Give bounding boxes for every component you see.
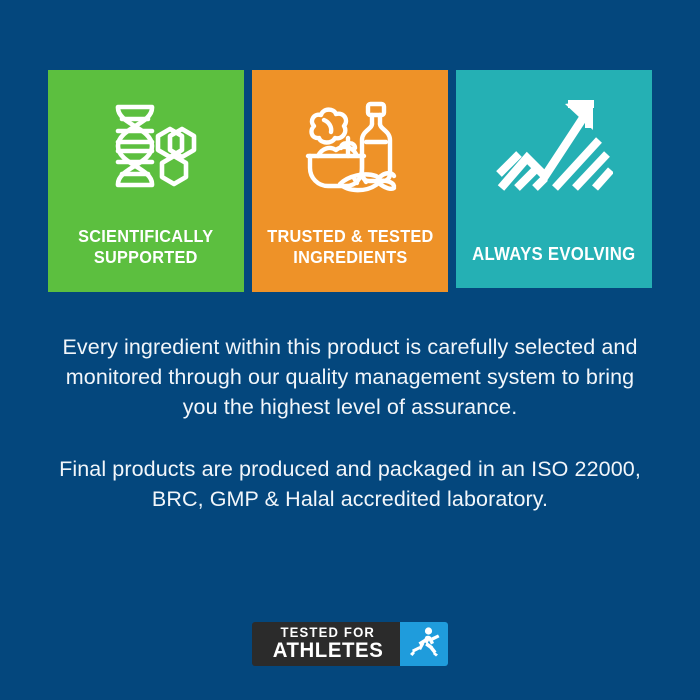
paragraph-quality-management: Every ingredient within this product is … [50, 332, 650, 422]
feature-card-label: ALWAYS EVOLVING [467, 244, 641, 265]
logo-line-tested-for: TESTED FOR [281, 626, 376, 640]
feature-card-label-line1: ALWAYS EVOLVING [472, 244, 635, 264]
feature-card-label-line1: SCIENTIFICALLY [78, 226, 213, 246]
graphic-canvas: SCIENTIFICALLY SUPPORTED [0, 0, 700, 700]
feature-card-scientifically-supported: SCIENTIFICALLY SUPPORTED [48, 70, 244, 292]
growth-arrow-chart-icon [495, 92, 613, 200]
feature-card-label-line2: SUPPORTED [94, 247, 198, 267]
running-athlete-icon [407, 625, 441, 664]
paragraph-accreditations: Final products are produced and packaged… [50, 454, 650, 514]
feature-card-label-line1: TRUSTED & TESTED [267, 226, 433, 246]
dna-hexagon-icon [94, 96, 198, 204]
vegetables-bottle-icon [296, 96, 404, 204]
feature-cards-row: SCIENTIFICALLY SUPPORTED [48, 70, 652, 292]
feature-card-label: TRUSTED & TESTED INGREDIENTS [261, 226, 438, 268]
body-copy-block: Every ingredient within this product is … [50, 332, 650, 514]
feature-card-trusted-tested-ingredients: TRUSTED & TESTED INGREDIENTS [252, 70, 448, 292]
feature-card-label: SCIENTIFICALLY SUPPORTED [73, 226, 219, 268]
logo-accent-panel [400, 622, 448, 666]
feature-card-always-evolving: ALWAYS EVOLVING [456, 70, 652, 288]
feature-card-label-line2: INGREDIENTS [293, 247, 407, 267]
tested-for-athletes-logo: TESTED FOR ATHLETES [252, 622, 448, 666]
logo-line-athletes: ATHLETES [273, 640, 384, 662]
logo-text-panel: TESTED FOR ATHLETES [252, 622, 400, 666]
